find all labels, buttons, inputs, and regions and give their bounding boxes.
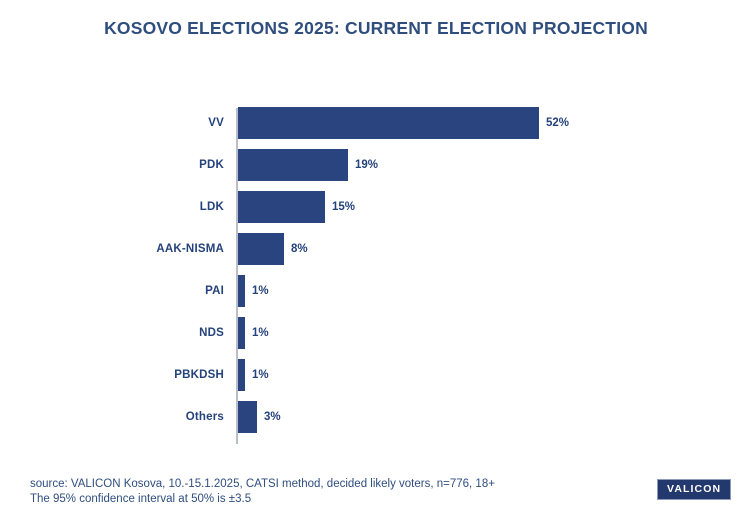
- bar-chart-plot: VV 52% PDK 19% LDK 15% AAK-NISMA 8% PAI …: [0, 100, 752, 448]
- bar-others: [238, 401, 257, 433]
- value-label-pbkdsh: 1%: [252, 354, 269, 396]
- bar-row: AAK-NISMA 8%: [0, 228, 752, 270]
- value-label-ldk: 15%: [332, 186, 355, 228]
- bar-ldk: [238, 191, 325, 223]
- value-label-vv: 52%: [546, 102, 569, 144]
- bar-row: NDS 1%: [0, 312, 752, 354]
- bar-pdk: [238, 149, 348, 181]
- bar-row: LDK 15%: [0, 186, 752, 228]
- bar-nds: [238, 317, 245, 349]
- value-label-pdk: 19%: [355, 144, 378, 186]
- chart-title: KOSOVO ELECTIONS 2025: CURRENT ELECTION …: [0, 18, 752, 39]
- value-label-pai: 1%: [252, 270, 269, 312]
- category-label-ldk: LDK: [0, 186, 224, 228]
- source-note: source: VALICON Kosova, 10.-15.1.2025, C…: [30, 477, 495, 507]
- source-line-2: The 95% confidence interval at 50% is ±3…: [30, 492, 495, 507]
- category-label-pdk: PDK: [0, 144, 224, 186]
- bar-row: VV 52%: [0, 102, 752, 144]
- bar-row: PBKDSH 1%: [0, 354, 752, 396]
- bar-pai: [238, 275, 245, 307]
- bar-row: PDK 19%: [0, 144, 752, 186]
- chart-slide: KOSOVO ELECTIONS 2025: CURRENT ELECTION …: [0, 0, 752, 525]
- category-label-pai: PAI: [0, 270, 224, 312]
- category-label-aak-nisma: AAK-NISMA: [0, 228, 224, 270]
- bar-pbkdsh: [238, 359, 245, 391]
- bar-aak-nisma: [238, 233, 284, 265]
- category-label-nds: NDS: [0, 312, 224, 354]
- category-label-pbkdsh: PBKDSH: [0, 354, 224, 396]
- bar-row: PAI 1%: [0, 270, 752, 312]
- bar-row: Others 3%: [0, 396, 752, 438]
- value-label-nds: 1%: [252, 312, 269, 354]
- value-label-aak-nisma: 8%: [291, 228, 308, 270]
- bar-vv: [238, 107, 539, 139]
- source-line-1: source: VALICON Kosova, 10.-15.1.2025, C…: [30, 477, 495, 492]
- category-label-others: Others: [0, 396, 224, 438]
- valicon-logo: VALICON: [657, 479, 731, 500]
- category-label-vv: VV: [0, 102, 224, 144]
- value-label-others: 3%: [264, 396, 281, 438]
